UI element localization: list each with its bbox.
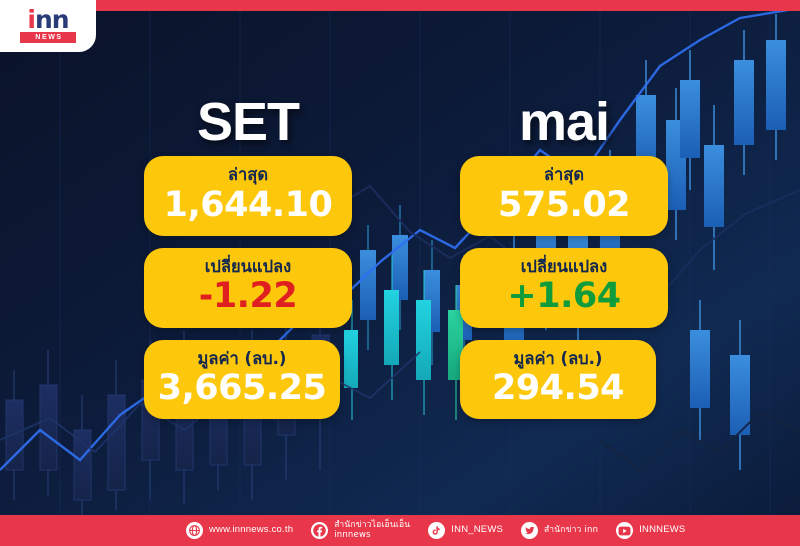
footer-item-twitter[interactable]: สำนักข่าว inn <box>521 522 598 539</box>
globe-icon <box>186 522 203 539</box>
card-label-mai-value: มูลค่า (ลบ.) <box>466 349 650 370</box>
logo-news-badge: NEWS <box>20 32 75 43</box>
footer-label-facebook-line1: สำนักข่าวไอเอ็นเอ็น <box>334 520 410 530</box>
card-mai-change: เปลี่ยนแปลง +1.64 <box>460 248 668 328</box>
youtube-icon <box>616 522 633 539</box>
twitter-icon <box>521 522 538 539</box>
footer-label-twitter: สำนักข่าว inn <box>544 526 598 536</box>
footer-item-website[interactable]: www.innnews.co.th <box>186 522 293 539</box>
card-mai-value: มูลค่า (ลบ.) 294.54 <box>460 340 656 420</box>
footer-item-facebook[interactable]: สำนักข่าวไอเอ็นเอ็น innnews <box>311 521 410 541</box>
infographic-canvas: inn NEWS SET ล่าสุด 1,644.10 เปลี่ยนแปลง… <box>0 0 800 546</box>
card-value-mai-last: 575.02 <box>466 186 662 225</box>
tiktok-icon <box>428 522 445 539</box>
footer-label-facebook: สำนักข่าวไอเอ็นเอ็น innnews <box>334 521 410 541</box>
card-value-set-last: 1,644.10 <box>150 186 346 225</box>
card-label-set-change: เปลี่ยนแปลง <box>150 257 346 278</box>
logo-wordmark: inn <box>27 9 68 30</box>
market-panel-set: SET ล่าสุด 1,644.10 เปลี่ยนแปลง -1.22 มู… <box>144 88 352 431</box>
footer-item-youtube[interactable]: INNNEWS <box>616 522 685 539</box>
footer-label-website: www.innnews.co.th <box>209 525 293 536</box>
card-value-mai-value: 294.54 <box>466 369 650 408</box>
card-set-change: เปลี่ยนแปลง -1.22 <box>144 248 352 328</box>
top-accent-bar <box>0 0 800 11</box>
card-value-set-value: 3,665.25 <box>150 369 334 408</box>
card-set-value: มูลค่า (ลบ.) 3,665.25 <box>144 340 340 420</box>
card-label-mai-change: เปลี่ยนแปลง <box>466 257 662 278</box>
social-footer-bar: www.innnews.co.th สำนักข่าวไอเอ็นเอ็น in… <box>0 515 800 546</box>
card-value-mai-change: +1.64 <box>466 277 662 316</box>
card-value-set-change: -1.22 <box>150 277 346 316</box>
card-label-set-last: ล่าสุด <box>150 165 346 186</box>
footer-label-youtube: INNNEWS <box>639 525 685 536</box>
footer-item-tiktok[interactable]: INN_NEWS <box>428 522 503 539</box>
card-label-mai-last: ล่าสุด <box>466 165 662 186</box>
card-label-set-value: มูลค่า (ลบ.) <box>150 349 334 370</box>
market-title-mai: mai <box>460 88 668 156</box>
facebook-icon <box>311 522 328 539</box>
footer-label-tiktok: INN_NEWS <box>451 525 503 536</box>
inn-news-logo[interactable]: inn NEWS <box>0 0 96 52</box>
market-title-set: SET <box>144 88 352 156</box>
logo-dot-accent: i <box>27 5 35 34</box>
card-mai-last: ล่าสุด 575.02 <box>460 156 668 236</box>
background-stock-chart <box>0 0 800 546</box>
footer-label-facebook-line2: innnews <box>334 531 410 541</box>
card-set-last: ล่าสุด 1,644.10 <box>144 156 352 236</box>
market-panel-mai: mai ล่าสุด 575.02 เปลี่ยนแปลง +1.64 มูลค… <box>460 88 668 431</box>
